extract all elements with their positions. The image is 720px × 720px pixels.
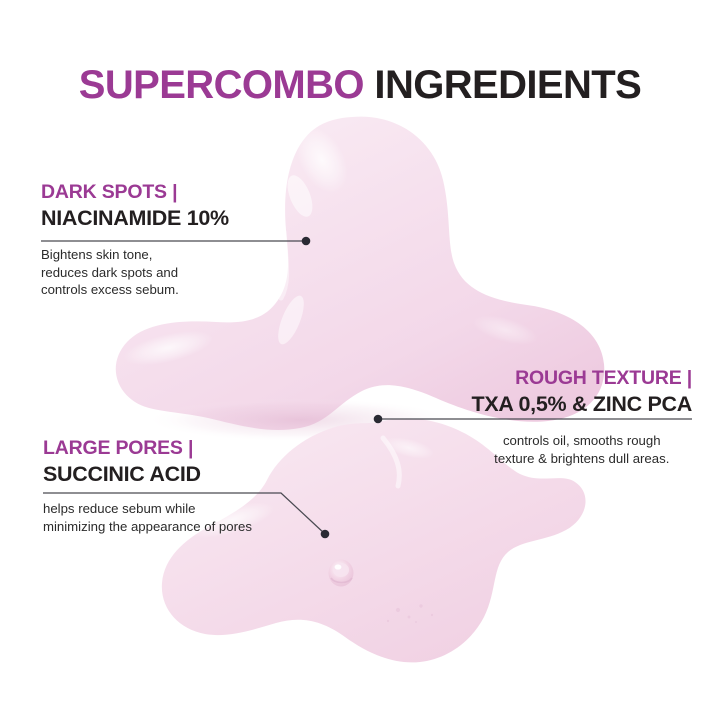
poster-canvas: SUPERCOMBO INGREDIENTS DARK SPOTS | NIAC…: [0, 0, 720, 720]
leader-dot-dark-spots: [302, 237, 311, 246]
callout-headline-dark-spots: NIACINAMIDE 10%: [41, 205, 229, 231]
callout-large-pores: LARGE PORES | SUCCINIC ACID helps reduce…: [43, 437, 252, 535]
page-title: SUPERCOMBO INGREDIENTS: [0, 65, 720, 105]
serum-blob-artwork: [0, 0, 720, 720]
micro-droplets: [387, 604, 433, 623]
gloss-streak-top: [282, 172, 317, 220]
gloss-streak-mid: [273, 293, 309, 348]
callout-headline-rough-texture: TXA 0,5% & ZINC PCA: [472, 391, 692, 417]
leader-dot-large-pores: [321, 530, 330, 539]
leader-lines: [0, 0, 720, 720]
callout-body-rough-texture: controls oil, smooths rough texture & br…: [472, 432, 692, 467]
callout-eyebrow-rough-texture: ROUGH TEXTURE |: [472, 367, 692, 391]
gloss-highlight-right-arm: [469, 309, 541, 351]
callout-eyebrow-dark-spots: DARK SPOTS |: [41, 181, 229, 205]
callout-headline-large-pores: SUCCINIC ACID: [43, 461, 252, 487]
gloss-highlight-lower-top: [382, 433, 437, 463]
callout-body-large-pores: helps reduce sebum while minimizing the …: [43, 500, 252, 535]
leader-dot-rough-texture: [374, 415, 383, 424]
page-title-accent: SUPERCOMBO: [79, 63, 364, 107]
gloss-edge-left: [281, 232, 287, 298]
callout-body-dark-spots: Bightens skin tone, reduces dark spots a…: [41, 246, 229, 299]
page-title-main: INGREDIENTS: [364, 63, 641, 107]
gloss-edge-lower: [383, 438, 399, 486]
serum-bubble: [329, 560, 354, 587]
callout-eyebrow-large-pores: LARGE PORES |: [43, 437, 252, 461]
callout-dark-spots: DARK SPOTS | NIACINAMIDE 10% Bightens sk…: [41, 181, 229, 299]
blob-upper-shadow: [145, 398, 455, 442]
callout-rough-texture: ROUGH TEXTURE | TXA 0,5% & ZINC PCA cont…: [472, 367, 692, 467]
gloss-highlight-left-arm: [120, 324, 216, 372]
gloss-highlight-top: [286, 118, 359, 202]
